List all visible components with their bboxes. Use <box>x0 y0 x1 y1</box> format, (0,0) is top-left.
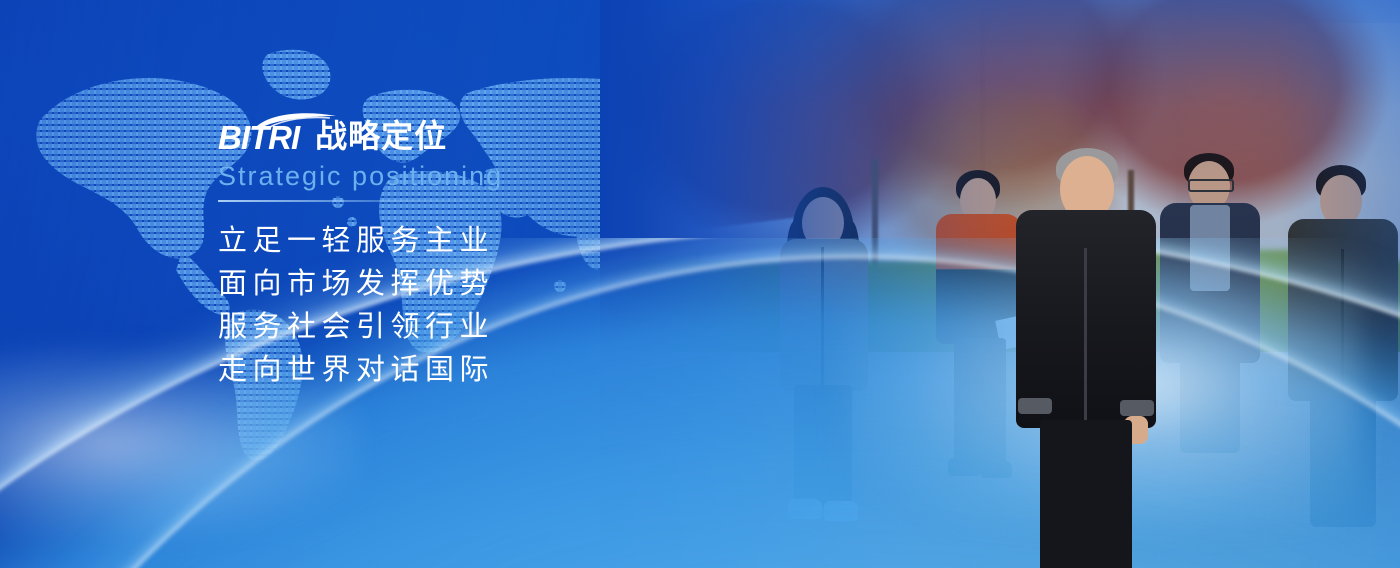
slogan-right: 服务主业 <box>356 220 494 263</box>
banner-text-block: BITRI 战略定位 Strategic positioning 立足一轻 服务… <box>218 112 503 392</box>
slogan-row: 立足一轻 服务主业 <box>218 220 503 263</box>
banner-photo <box>600 0 1400 568</box>
slogan-right: 发挥优势 <box>356 263 494 306</box>
slogan-left: 走向世界 <box>218 349 356 392</box>
slogan-right: 引领行业 <box>356 306 494 349</box>
strategic-positioning-banner: BITRI 战略定位 Strategic positioning 立足一轻 服务… <box>0 0 1400 568</box>
photo-left-fade <box>600 0 1400 568</box>
slogan-row: 面向市场 发挥优势 <box>218 263 503 306</box>
slogan-row: 走向世界 对话国际 <box>218 349 503 392</box>
slogan-row: 服务社会 引领行业 <box>218 306 503 349</box>
slogan-left: 服务社会 <box>218 306 356 349</box>
slogan-left: 立足一轻 <box>218 220 356 263</box>
banner-title-cn: 战略定位 <box>315 119 447 154</box>
banner-subtitle-en: Strategic positioning <box>218 160 503 192</box>
photo-person-leader <box>1016 148 1156 568</box>
bitri-logo-text: BITRI <box>218 121 299 154</box>
slogan-list: 立足一轻 服务主业 面向市场 发挥优势 服务社会 引领行业 走向世界 对话国际 <box>218 220 503 392</box>
bitri-logo: BITRI <box>218 111 299 154</box>
slogan-right: 对话国际 <box>356 349 494 392</box>
title-row: BITRI 战略定位 <box>218 112 503 154</box>
slogan-left: 面向市场 <box>218 263 356 306</box>
title-divider <box>218 200 488 202</box>
